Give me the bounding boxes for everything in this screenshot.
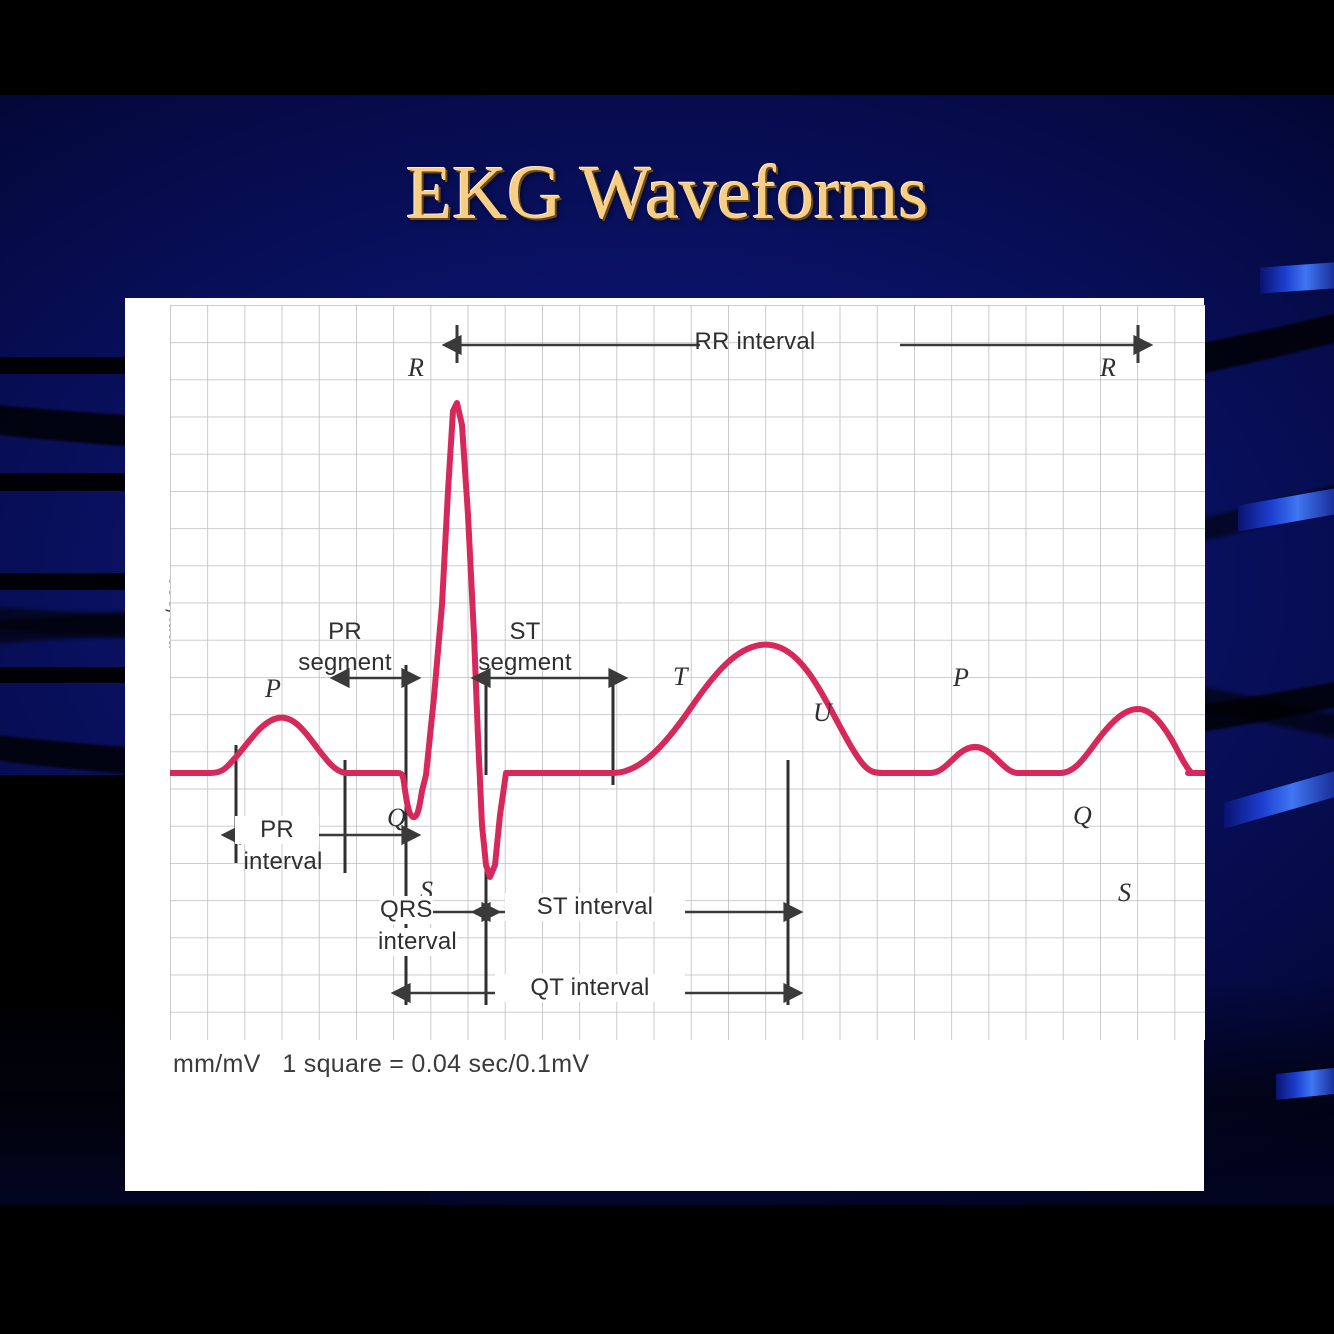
screenshot-stage: EKG Waveforms mm/sec. mm/mV 1 square = 0… <box>0 0 1334 1334</box>
background-stripe-3 <box>0 573 140 590</box>
qt-interval-label: QT interval <box>495 974 685 1002</box>
accent-ribbon-1 <box>1260 262 1334 293</box>
st-interval-label: ST interval <box>505 893 685 921</box>
wave-label-p1: P <box>265 674 281 704</box>
pr-segment-label-line2: segment <box>257 649 433 677</box>
wave-label-q1: Q <box>387 803 406 833</box>
st-segment-label-line2: segment <box>437 649 613 677</box>
accent-ribbon-2 <box>1238 489 1334 532</box>
ekg-figure-panel: mm/sec. mm/mV 1 square = 0.04 sec/0.1mV <box>125 298 1204 1191</box>
qrs-interval-label-line2: interval <box>378 928 457 956</box>
wave-label-s2: S <box>1118 878 1131 908</box>
pr-interval-label-line1: PR <box>235 816 319 844</box>
accent-ribbon-3 <box>1224 771 1334 829</box>
wave-label-q2: Q <box>1073 801 1092 831</box>
rr-interval-label: RR interval <box>645 328 865 356</box>
wave-label-u1: U <box>813 698 832 728</box>
wave-label-t1: T <box>673 662 687 692</box>
background-stripe-4 <box>0 667 128 683</box>
qrs-interval-label-line1: QRS <box>380 896 433 924</box>
wave-label-p2: P <box>953 663 969 693</box>
wave-label-r1: R <box>408 353 424 383</box>
st-segment-label-line1: ST <box>455 618 595 646</box>
pr-segment-label-line1: PR <box>275 618 415 646</box>
presentation-slide: EKG Waveforms mm/sec. mm/mV 1 square = 0… <box>0 95 1334 1205</box>
figure-footnote: mm/mV 1 square = 0.04 sec/0.1mV <box>173 1050 589 1079</box>
slide-title: EKG Waveforms <box>0 155 1334 231</box>
pr-interval-label-line2: interval <box>213 848 353 876</box>
wave-label-r2: R <box>1100 353 1116 383</box>
